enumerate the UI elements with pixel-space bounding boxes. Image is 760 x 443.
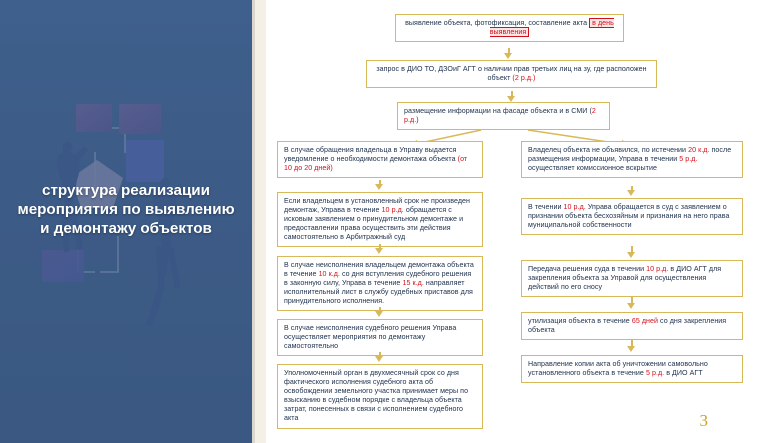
flow-node-left-4[interactable]: В случае неисполнения судебного решения … — [277, 319, 483, 356]
flow-node-request[interactable]: запрос в ДИО ТО, ДЗОиГ АГТ о наличии пра… — [366, 60, 657, 88]
flow-node-left-3[interactable]: В случае неисполнения владельцем демонта… — [277, 256, 483, 311]
text-run-1: 10 р.д. — [382, 206, 404, 214]
flow-node-detection[interactable]: выявление объекта, фотофиксация, составл… — [395, 14, 624, 42]
text-run-0: Передача решения суда в течении — [528, 265, 646, 273]
flow-node-right-4[interactable]: утилизация объекта в течение 65 дней со … — [521, 312, 743, 340]
slide-root: структура реализации мероприятия по выяв… — [0, 0, 760, 443]
text-run-3: 15 к.д. — [402, 279, 423, 287]
panel-title-line-2: мероприятия по выявлению — [10, 200, 242, 219]
text-run-0: Уполномоченный орган в двухмесячный срок… — [284, 369, 468, 422]
connector-arrow-1 — [504, 53, 512, 59]
text-run-0: В случае неисполнения судебного решения … — [284, 324, 456, 350]
panel-title: структура реализации мероприятия по выяв… — [10, 181, 242, 238]
panel-title-line-1: структура реализации — [10, 181, 242, 200]
flow-node-publication[interactable]: размещение информации на фасаде объекта … — [397, 102, 610, 130]
connector-right-arrow-3 — [627, 303, 635, 309]
flowchart: выявление объекта, фотофиксация, составл… — [266, 0, 760, 443]
text-run-0: Владелец объекта не объявился, по истече… — [528, 146, 688, 154]
title-panel: структура реализации мероприятия по выяв… — [0, 0, 252, 443]
flow-node-left-1[interactable]: В случае обращения владельца в Управу вы… — [277, 141, 483, 178]
text-run-2: ) — [416, 116, 418, 124]
text-run-0: В случае обращения владельца в Управу вы… — [284, 146, 458, 163]
panel-title-line-3: и демонтажу объектов — [10, 219, 242, 238]
text-run-1: 10 р.д. — [646, 265, 668, 273]
connector-left-arrow-1 — [375, 184, 383, 190]
text-run-1: 10 к.д. — [319, 270, 340, 278]
text-run-0: выявление объекта, фотофиксация, составл… — [405, 19, 589, 27]
connector-left-arrow-2 — [375, 248, 383, 254]
connector-right-arrow-2 — [627, 252, 635, 258]
connector-right-arrow-4 — [627, 346, 635, 352]
flow-node-right-3[interactable]: Передача решения суда в течении 10 р.д. … — [521, 260, 743, 297]
text-run-0: В течении — [528, 203, 564, 211]
page-number: 3 — [700, 411, 709, 431]
text-run-4: осуществляет комиссионное вскрытие — [528, 164, 657, 172]
text-run-2: в ДИО АГТ — [664, 369, 703, 377]
connector-right-arrow-1 — [627, 190, 635, 196]
flow-node-left-2[interactable]: Если владельцем в установленный срок не … — [277, 192, 483, 247]
text-run-0: размещение информации на фасаде объекта … — [404, 107, 592, 115]
connector-left-arrow-3 — [375, 311, 383, 317]
text-run-1: 10 р.д. — [564, 203, 586, 211]
flow-node-right-1[interactable]: Владелец объекта не объявился, по истече… — [521, 141, 743, 178]
flow-node-right-5[interactable]: Направление копии акта об уничтожении са… — [521, 355, 743, 383]
text-run-0: утилизация объекта в течение — [528, 317, 632, 325]
flow-node-left-5[interactable]: Уполномоченный орган в двухмесячный срок… — [277, 364, 483, 429]
text-run-1: 5 р.д. — [646, 369, 664, 377]
text-run-1: 20 к.д. — [688, 146, 709, 154]
text-run-1: (2 р.д.) — [512, 74, 535, 82]
page-edge-strip — [252, 0, 266, 443]
text-run-1: 65 дней — [632, 317, 658, 325]
text-run-3: 5 р.д. — [679, 155, 697, 163]
flow-node-right-2[interactable]: В течении 10 р.д. Управа обращается в су… — [521, 198, 743, 235]
connector-left-arrow-4 — [375, 356, 383, 362]
